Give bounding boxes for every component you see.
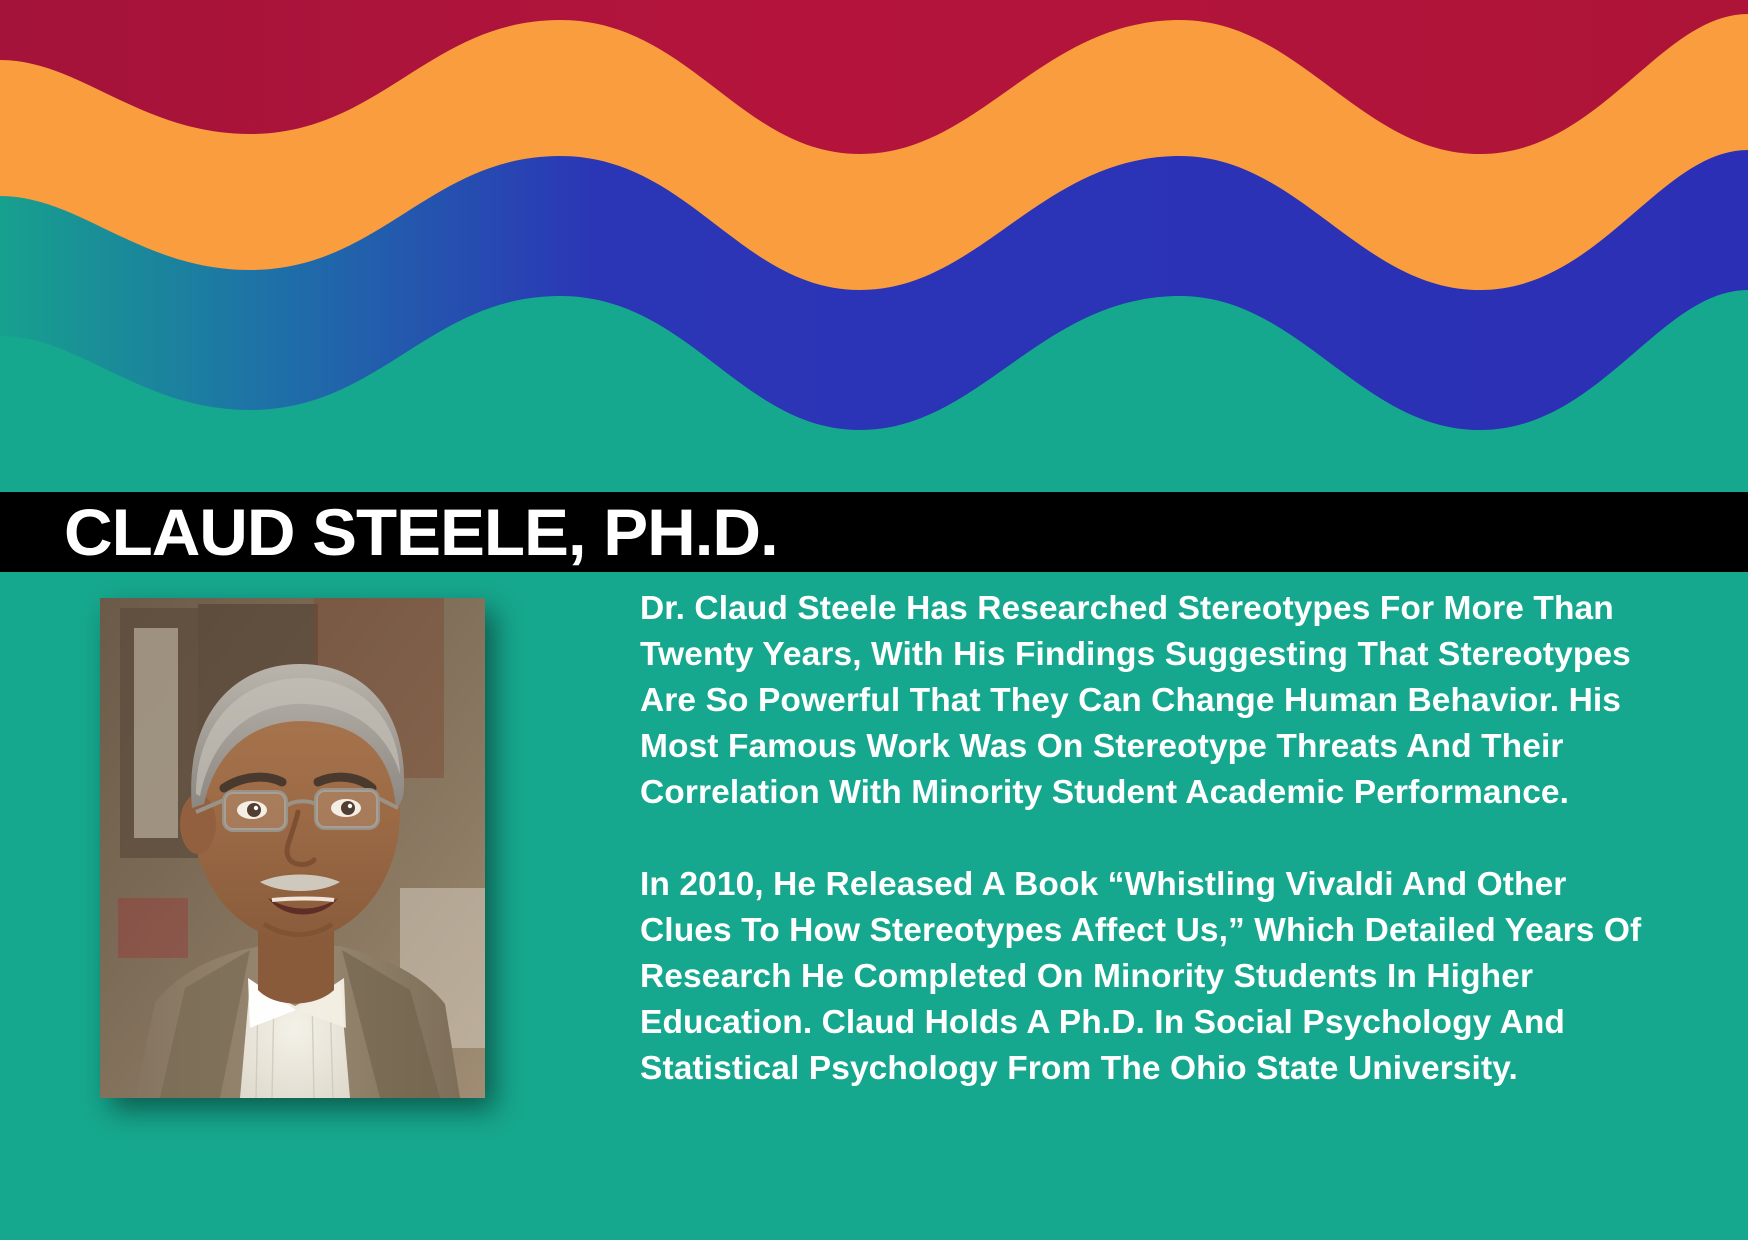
- bio-paragraph-2: In 2010, He Released A Book “Whistling V…: [640, 862, 1664, 1092]
- page-title: CLAUD STEELE, PH.D.: [64, 499, 778, 565]
- bio-text-column: Dr. Claud Steele Has Researched Stereoty…: [640, 586, 1664, 1092]
- claud-steele-portrait: [100, 598, 485, 1098]
- bio-paragraph-1: Dr. Claud Steele Has Researched Stereoty…: [640, 586, 1664, 816]
- poster-card: CLAUD STEELE, PH.D.: [0, 0, 1748, 1240]
- wave-header-graphic: [0, 0, 1748, 492]
- title-bar: CLAUD STEELE, PH.D.: [0, 492, 1748, 572]
- body-section: Dr. Claud Steele Has Researched Stereoty…: [0, 572, 1748, 1240]
- portrait-frame: [100, 598, 485, 1098]
- wave-band-crimson: [0, 0, 1748, 154]
